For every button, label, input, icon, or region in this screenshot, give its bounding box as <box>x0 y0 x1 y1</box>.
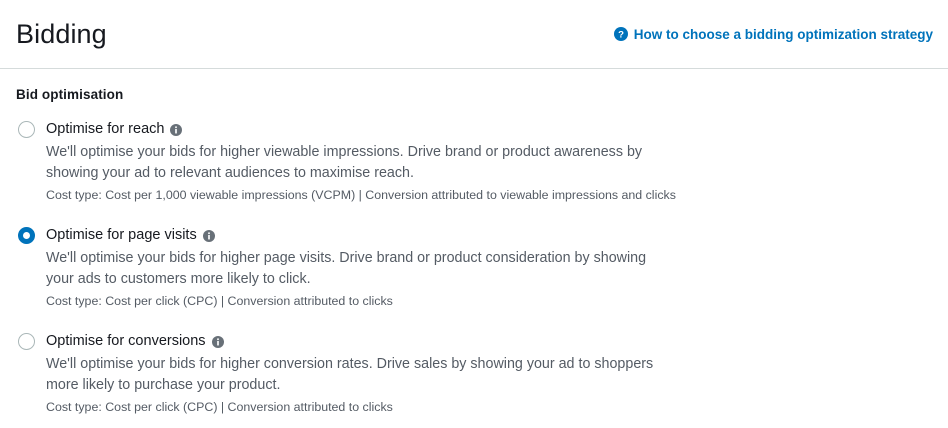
bid-option-conversions[interactable]: Optimise for conversions We'll optimise … <box>16 332 932 416</box>
bid-option-description: We'll optimise your bids for higher page… <box>46 248 671 290</box>
radio-optimise-for-conversions[interactable] <box>18 333 35 350</box>
bid-option-label-row[interactable]: Optimise for page visits <box>46 226 932 244</box>
section-title: Bid optimisation <box>16 87 932 102</box>
bid-option-label: Optimise for conversions <box>46 332 206 350</box>
svg-text:?: ? <box>618 30 624 41</box>
bid-option-label: Optimise for reach <box>46 120 164 138</box>
page-title: Bidding <box>16 18 107 50</box>
bid-option-label: Optimise for page visits <box>46 226 197 244</box>
help-link-label: How to choose a bidding optimization str… <box>634 27 933 42</box>
help-link[interactable]: ? How to choose a bidding optimization s… <box>614 27 933 42</box>
bid-option-label-row[interactable]: Optimise for reach <box>46 120 932 138</box>
bid-option-cost-type: Cost type: Cost per click (CPC) | Conver… <box>46 293 706 310</box>
bid-optimisation-section: Bid optimisation Optimise for reach We'l… <box>0 69 948 416</box>
radio-optimise-for-page-visits[interactable] <box>18 227 35 244</box>
bid-option-cost-type: Cost type: Cost per click (CPC) | Conver… <box>46 399 706 416</box>
info-circle-icon[interactable] <box>212 336 224 348</box>
page-header: Bidding ? How to choose a bidding optimi… <box>0 0 948 68</box>
radio-optimise-for-reach[interactable] <box>18 121 35 138</box>
bid-option-cost-type: Cost type: Cost per 1,000 viewable impre… <box>46 187 706 204</box>
bid-option-page-visits[interactable]: Optimise for page visits We'll optimise … <box>16 226 932 310</box>
info-circle-icon[interactable] <box>203 230 215 242</box>
info-circle-icon[interactable] <box>170 124 182 136</box>
bid-option-description: We'll optimise your bids for higher view… <box>46 142 671 184</box>
bidding-page: Bidding ? How to choose a bidding optimi… <box>0 0 948 428</box>
bid-option-reach[interactable]: Optimise for reach We'll optimise your b… <box>16 120 932 204</box>
help-circle-icon: ? <box>614 27 628 41</box>
bid-option-label-row[interactable]: Optimise for conversions <box>46 332 932 350</box>
bid-option-description: We'll optimise your bids for higher conv… <box>46 354 671 396</box>
